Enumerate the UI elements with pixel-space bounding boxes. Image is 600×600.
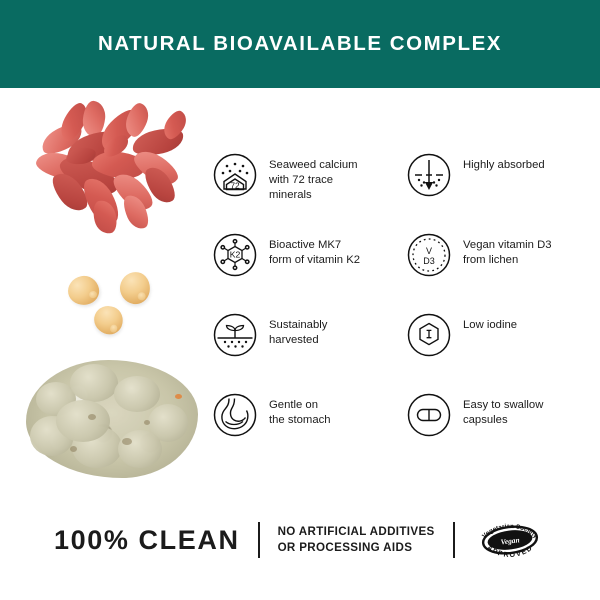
benefit-line: form of vitamin K2 [269,253,360,268]
benefit-line: Sustainably [269,318,327,333]
benefit-line: Seaweed calcium [269,158,358,173]
benefit-label: Low iodine [463,312,517,333]
benefit-label: Sustainably harvested [269,312,327,348]
benefit-low-iodine: Low iodine [406,312,600,392]
benefit-seaweed-calcium: 72 Seaweed calcium with 72 trace mineral… [212,152,406,232]
easy-to-swallow-capsule-icon [406,392,452,438]
benefit-line: Low iodine [463,318,517,333]
vitamin-k2-molecule-icon: K2 [212,232,258,278]
sustainably-harvested-sprout-icon [212,312,258,358]
svg-text:K2: K2 [230,250,241,260]
benefit-line: capsules [463,413,543,428]
benefit-line: Bioactive MK7 [269,238,360,253]
page-title: NATURAL BIOAVAILABLE COMPLEX [98,32,502,56]
ingredient-photo-column [0,88,212,500]
svg-text:V: V [426,246,432,256]
benefit-gentle-on-stomach: Gentle on the stomach [212,392,406,472]
benefit-label: Seaweed calcium with 72 trace minerals [269,152,358,204]
benefit-line: Highly absorbed [463,158,545,173]
benefit-line: with 72 trace [269,173,358,188]
benefits-row: Gentle on the stomach Easy to swallow ca… [212,392,600,472]
benefit-line: Easy to swallow [463,398,543,413]
benefit-line: from lichen [463,253,552,268]
benefit-line: minerals [269,188,358,203]
lichen-photo [26,360,198,478]
clean-claim-headline: 100% CLEAN [54,525,240,556]
gentle-on-stomach-icon [212,392,258,438]
clean-claim-subtext: NO ARTIFICIAL ADDITIVES OR PROCESSING AI… [278,524,435,557]
benefits-grid: 72 Seaweed calcium with 72 trace mineral… [212,152,600,472]
claim-divider-2 [453,522,455,558]
benefit-line: harvested [269,333,327,348]
clean-claim-bar: 100% CLEAN NO ARTIFICIAL ADDITIVES OR PR… [0,512,600,568]
vegan-vitamin-d3-icon: V D3 [406,232,452,278]
highly-absorbed-arrow-icon [406,152,452,198]
benefit-vitamin-d3: V D3 Vegan vitamin D3 from lichen [406,232,600,312]
chickpeas-photo [62,268,172,343]
benefit-label: Highly absorbed [463,152,545,173]
seaweed-calcium-72-minerals-icon: 72 [212,152,258,198]
benefit-vitamin-k2: K2 Bioactive MK7 form of vitamin K2 [212,232,406,312]
claim-sub-line: NO ARTIFICIAL ADDITIVES [278,524,435,541]
benefits-row: Sustainably harvested Low iodine [212,312,600,392]
product-benefits-infographic: NATURAL BIOAVAILABLE COMPLEX [0,0,600,600]
benefit-label: Easy to swallow capsules [463,392,543,428]
red-seaweed-photo [36,108,206,233]
benefit-easy-to-swallow: Easy to swallow capsules [406,392,600,472]
benefit-highly-absorbed: Highly absorbed [406,152,600,232]
svg-text:D3: D3 [423,256,435,266]
benefit-line: the stomach [269,413,331,428]
claim-sub-line: OR PROCESSING AIDS [278,540,435,557]
benefits-row: K2 Bioactive MK7 form of vitamin K2 V D3 [212,232,600,312]
benefit-sustainably-harvested: Sustainably harvested [212,312,406,392]
benefit-line: Gentle on [269,398,331,413]
benefit-label: Vegan vitamin D3 from lichen [463,232,552,268]
low-iodine-hexagon-icon [406,312,452,358]
vegetarian-society-vegan-approved-badge: Vegan Vegetarian Society APPROVED [473,513,547,567]
claim-divider-1 [258,522,260,558]
header-banner: NATURAL BIOAVAILABLE COMPLEX [0,0,600,88]
benefit-label: Gentle on the stomach [269,392,331,428]
benefit-line: Vegan vitamin D3 [463,238,552,253]
benefit-label: Bioactive MK7 form of vitamin K2 [269,232,360,268]
benefits-row: 72 Seaweed calcium with 72 trace mineral… [212,152,600,232]
svg-text:72: 72 [230,180,240,190]
